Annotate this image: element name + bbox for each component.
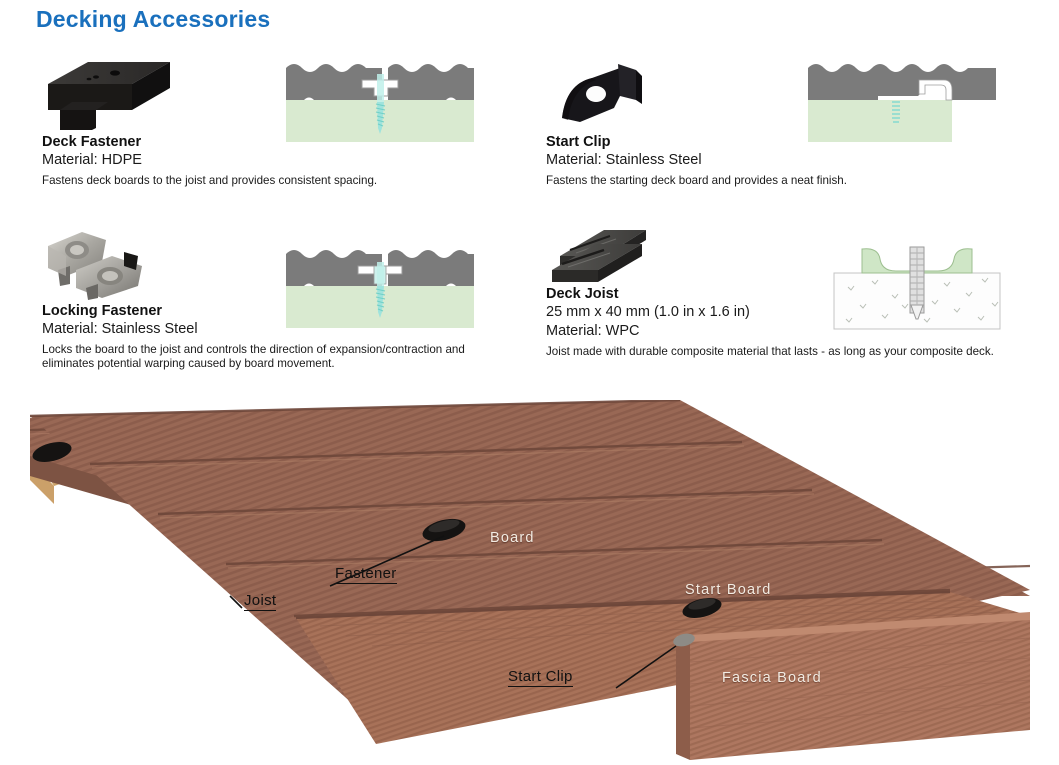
product-material: Material: Stainless Steel — [42, 320, 512, 339]
product-name: Deck Fastener — [42, 134, 512, 151]
product-name: Deck Joist — [546, 286, 1021, 303]
fascia-board — [676, 612, 1030, 760]
product-material: Material: Stainless Steel — [546, 151, 1016, 170]
product-name: Locking Fastener — [42, 303, 512, 320]
page-title: Decking Accessories — [36, 6, 270, 33]
callout-joist: Joist — [244, 592, 276, 611]
product-description: Fastens deck boards to the joist and pro… — [42, 174, 512, 188]
product-name: Start Clip — [546, 134, 1016, 151]
deck-label-fascia-board: Fascia Board — [722, 670, 822, 686]
deck-assembly-illustration: Board Start Board Fascia Board Joist Fas… — [30, 400, 1030, 760]
product-description: Fastens the starting deck board and prov… — [546, 174, 1016, 188]
deck-label-board: Board — [490, 530, 535, 546]
deck-fastener-text: Deck Fastener Material: HDPE Fastens dec… — [42, 134, 512, 188]
fastener-cross-section-diagram — [284, 56, 476, 144]
callout-start-clip: Start Clip — [508, 668, 573, 687]
deck-joist-text: Deck Joist 25 mm x 40 mm (1.0 in x 1.6 i… — [546, 286, 1021, 359]
product-description: Locks the board to the joist and control… — [42, 343, 512, 371]
deck-label-start-board: Start Board — [685, 582, 772, 598]
product-dimensions: 25 mm x 40 mm (1.0 in x 1.6 in) — [546, 303, 1021, 322]
product-material: Material: WPC — [546, 322, 1021, 341]
product-material: Material: HDPE — [42, 151, 512, 170]
product-description: Joist made with durable composite materi… — [546, 345, 1021, 359]
locking-fastener-text: Locking Fastener Material: Stainless Ste… — [42, 303, 512, 371]
black-start-clip-photo — [556, 56, 656, 130]
start-clip-text: Start Clip Material: Stainless Steel Fas… — [546, 134, 1016, 188]
black-hdpe-clip-photo — [40, 52, 180, 130]
callout-fastener: Fastener — [335, 565, 397, 584]
start-clip-cross-section-diagram — [806, 56, 998, 144]
stainless-locking-clip-photo — [42, 226, 162, 300]
